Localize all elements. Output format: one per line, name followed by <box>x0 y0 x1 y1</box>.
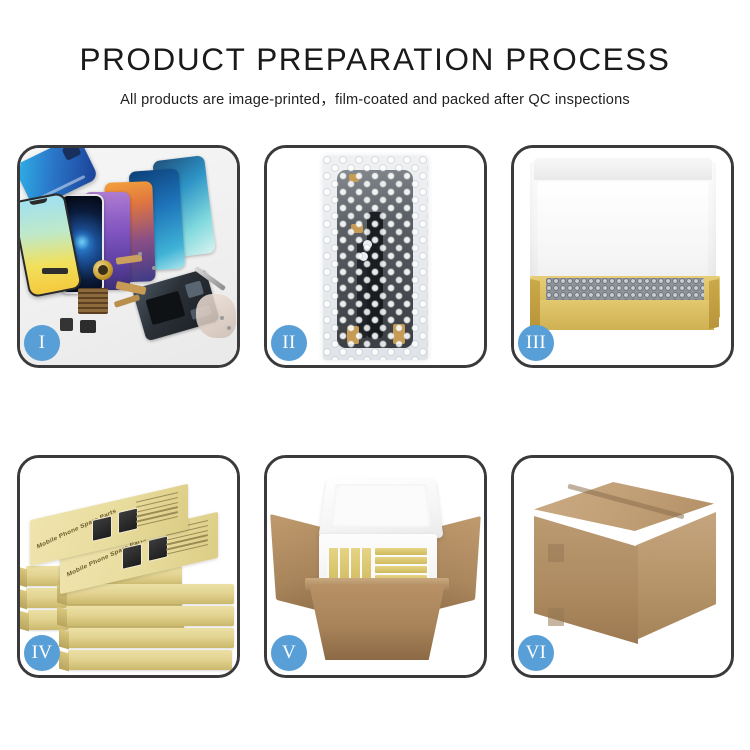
step-card-3: III <box>511 145 734 368</box>
bubble-wrap-texture <box>323 156 428 360</box>
carton-body <box>309 584 445 660</box>
mailer-box-lid-edge <box>534 158 712 180</box>
loudspeaker-part <box>80 320 96 333</box>
mailer-box-side-right <box>709 279 719 329</box>
page-subtitle: All products are image-printed，film-coat… <box>0 88 750 109</box>
foam-box-lid <box>318 478 443 538</box>
battery-icon <box>146 291 186 325</box>
screw-part <box>138 252 142 256</box>
screw-part <box>220 316 224 320</box>
box-window-phone <box>92 515 112 542</box>
step-badge-5: V <box>271 635 307 671</box>
box-spec-lines <box>136 492 178 532</box>
step-badge-6: VI <box>518 635 554 671</box>
mailer-box-side-left <box>530 279 540 329</box>
step-badge-2: II <box>271 325 307 361</box>
box-window-phone <box>122 543 142 570</box>
vibration-motor-part <box>93 260 113 280</box>
box-window-phone <box>148 535 168 562</box>
screw-part <box>152 266 156 270</box>
bubble-wrap-bag <box>323 156 428 360</box>
yellow-box-item <box>375 548 427 555</box>
step-card-4: Mobile Phone Spare Parts Mobile Phone Sp… <box>17 455 240 678</box>
product-preparation-infographic: PRODUCT PREPARATION PROCESS All products… <box>0 0 750 750</box>
step-card-1: I <box>17 145 240 368</box>
step-badge-4: IV <box>24 635 60 671</box>
box-stack: Mobile Phone Spare Parts Mobile Phone Sp… <box>26 480 237 660</box>
phone-notch <box>29 198 47 205</box>
stacked-box <box>68 650 232 670</box>
stacked-box <box>66 606 234 626</box>
header: PRODUCT PREPARATION PROCESS All products… <box>0 0 750 109</box>
chip-grid-part <box>78 288 108 314</box>
carton-tape-patch <box>548 608 564 626</box>
process-step-grid: I II <box>17 145 735 678</box>
screw-part <box>227 326 231 330</box>
mailer-box-front <box>536 300 714 330</box>
carton-tape-patch <box>548 544 564 562</box>
page-title: PRODUCT PREPARATION PROCESS <box>0 42 750 76</box>
yellow-box-item <box>375 557 427 564</box>
stacked-box <box>68 628 234 648</box>
step-badge-3: III <box>518 325 554 361</box>
small-module-part <box>60 318 73 331</box>
camera-module-icon <box>62 148 82 161</box>
yellow-box-item <box>375 566 427 573</box>
step-badge-1: I <box>24 325 60 361</box>
carton-side-face <box>636 512 716 640</box>
step-card-5: V <box>264 455 487 678</box>
camera-bracket <box>185 280 204 298</box>
hand-icon <box>196 294 236 338</box>
step-card-2: II <box>264 145 487 368</box>
step-card-6: VI <box>511 455 734 678</box>
box-window-phone <box>118 507 138 534</box>
earpiece-mesh-part <box>42 268 68 274</box>
